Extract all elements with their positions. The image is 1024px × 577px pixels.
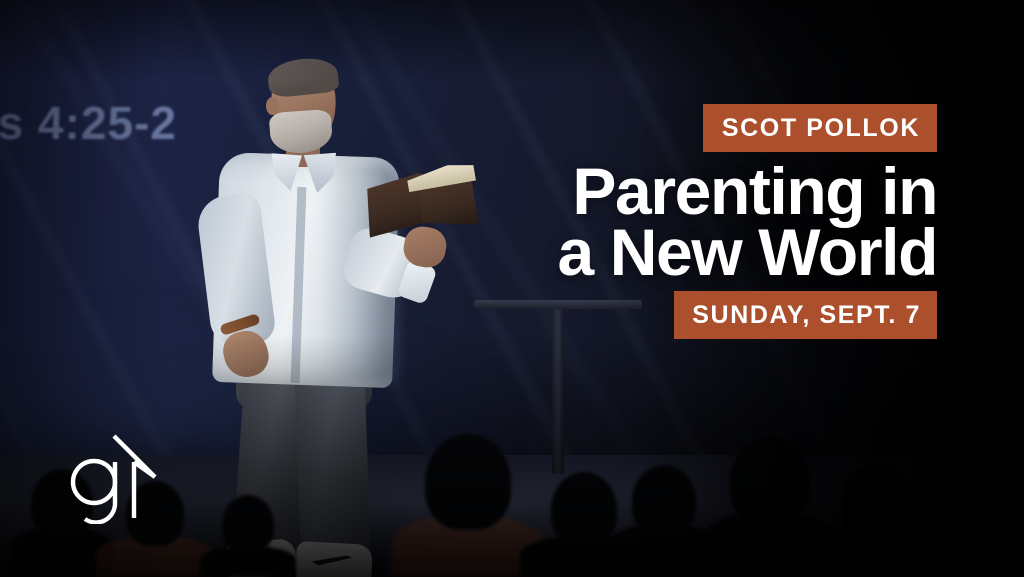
sermon-title-card: ans 4:25-2 [0, 0, 1024, 577]
sermon-title-line-2: a New World [337, 222, 937, 283]
sermon-title-line-1: Parenting in [337, 161, 937, 222]
gt-logo [62, 432, 166, 524]
speaker-name-badge: SCOT POLLOK [703, 104, 937, 152]
service-date-badge: SUNDAY, SEPT. 7 [674, 291, 937, 339]
pillarbox-right [937, 0, 1024, 577]
gt-logo-mark [62, 432, 166, 524]
title-overlay: SCOT POLLOK Parenting in a New World SUN… [337, 104, 937, 339]
date-badge-row: SUNDAY, SEPT. 7 [337, 291, 937, 339]
speaker-badge-row: SCOT POLLOK [337, 104, 937, 152]
sermon-title: Parenting in a New World [337, 161, 937, 284]
